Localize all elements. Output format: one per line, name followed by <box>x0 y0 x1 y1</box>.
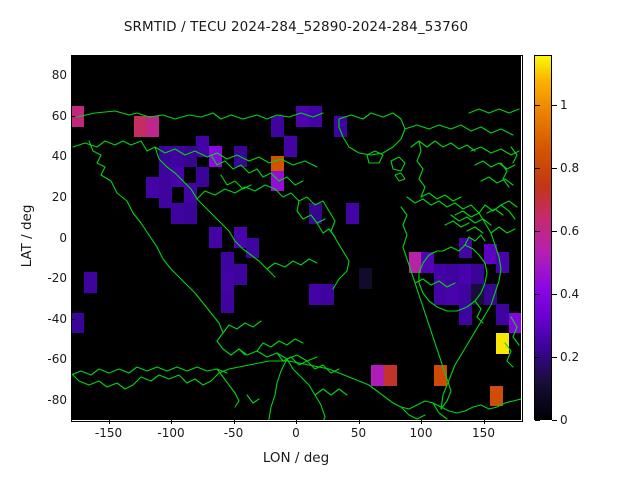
colorbar-tick-label: 0.8 <box>560 161 579 175</box>
y-tick-mark <box>71 319 75 320</box>
y-tick-label: 20 <box>52 190 67 204</box>
colorbar-tick-mark <box>552 231 557 232</box>
y-tick-mark <box>71 116 75 117</box>
colorbar-tick-mark <box>535 294 540 295</box>
x-tick-mark <box>359 420 360 424</box>
colorbar-tick-label: 0.2 <box>560 350 579 364</box>
colorbar-tick-mark <box>552 294 557 295</box>
x-tick-label: 100 <box>410 426 433 440</box>
x-tick-label: 150 <box>472 426 495 440</box>
colorbar-tick-mark <box>552 357 557 358</box>
x-tick-mark <box>296 420 297 424</box>
map-plot-area <box>71 55 521 420</box>
x-tick-mark <box>109 420 110 424</box>
y-tick-mark <box>71 156 75 157</box>
coastline-map <box>71 55 521 420</box>
y-tick-mark <box>71 238 75 239</box>
y-tick-mark <box>71 400 75 401</box>
y-tick-mark <box>71 359 75 360</box>
y-tick-mark <box>71 278 75 279</box>
x-tick-label: -50 <box>224 426 244 440</box>
x-axis-label: LON / deg <box>71 450 521 466</box>
colorbar-gradient <box>535 56 551 419</box>
y-tick-mark <box>71 197 75 198</box>
x-tick-mark <box>484 420 485 424</box>
colorbar <box>534 55 552 420</box>
y-tick-label: -80 <box>47 393 67 407</box>
x-tick-label: 50 <box>351 426 366 440</box>
y-axis-label: LAT / deg <box>19 146 35 326</box>
colorbar-tick-mark <box>552 105 557 106</box>
colorbar-tick-mark <box>535 105 540 106</box>
colorbar-tick-mark <box>535 231 540 232</box>
colorbar-tick-mark <box>552 420 557 421</box>
y-tick-label: -20 <box>47 271 67 285</box>
colorbar-tick-label: 1 <box>560 98 568 112</box>
y-tick-label: 0 <box>59 231 67 245</box>
colorbar-tick-label: 0.6 <box>560 224 579 238</box>
x-tick-mark <box>421 420 422 424</box>
x-tick-label: -150 <box>95 426 122 440</box>
colorbar-tick-mark <box>535 357 540 358</box>
figure-canvas: SRMTID / TECU 2024-284_52890-2024-284_53… <box>0 0 640 480</box>
x-tick-mark <box>234 420 235 424</box>
colorbar-tick-mark <box>535 420 540 421</box>
y-tick-label: -40 <box>47 312 67 326</box>
x-tick-mark <box>171 420 172 424</box>
y-tick-label: -60 <box>47 352 67 366</box>
x-tick-label: -100 <box>157 426 184 440</box>
y-tick-mark <box>71 75 75 76</box>
y-tick-label: 60 <box>52 109 67 123</box>
colorbar-tick-mark <box>552 168 557 169</box>
y-tick-label: 80 <box>52 68 67 82</box>
chart-title: SRMTID / TECU 2024-284_52890-2024-284_53… <box>0 19 592 35</box>
colorbar-tick-label: 0 <box>560 413 568 427</box>
y-tick-label: 40 <box>52 149 67 163</box>
colorbar-tick-mark <box>535 168 540 169</box>
x-tick-label: 0 <box>292 426 300 440</box>
colorbar-tick-label: 0.4 <box>560 287 579 301</box>
